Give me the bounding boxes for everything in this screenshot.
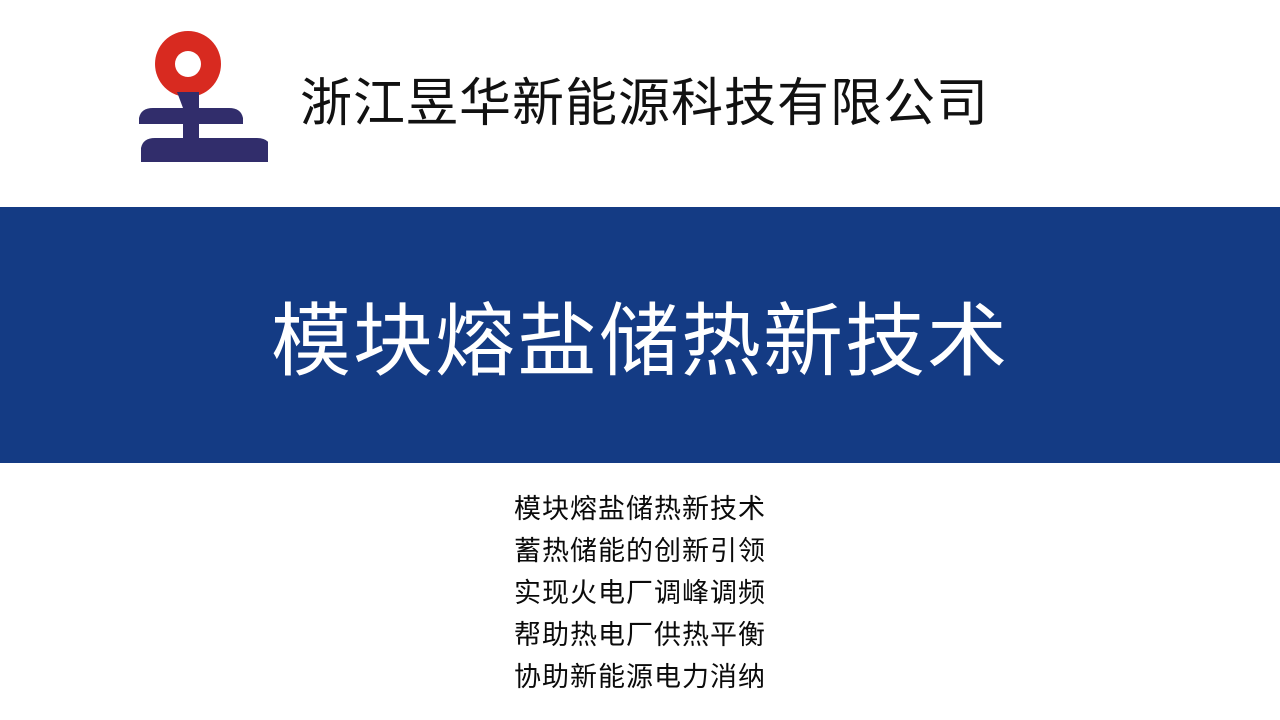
company-name: 浙江昱华新能源科技有限公司 (300, 62, 1040, 148)
list-item: 蓄热储能的创新引领 (0, 530, 1280, 572)
list-item: 协助新能源电力消纳 (0, 656, 1280, 698)
title-banner: 模块熔盐储热新技术 (0, 207, 1280, 463)
list-item: 实现火电厂调峰调频 (0, 572, 1280, 614)
key-points-list: 模块熔盐储热新技术 蓄热储能的创新引领 实现火电厂调峰调频 帮助热电厂供热平衡 … (0, 488, 1280, 698)
slide-header: 浙江昱华新能源科技有限公司 (0, 0, 1280, 207)
presentation-slide: 浙江昱华新能源科技有限公司 模块熔盐储热新技术 模块熔盐储热新技术 蓄热储能的创… (0, 0, 1280, 720)
slide-title: 模块熔盐储热新技术 (0, 207, 1280, 463)
company-logo-icon (108, 28, 268, 173)
list-item: 模块熔盐储热新技术 (0, 488, 1280, 530)
list-item: 帮助热电厂供热平衡 (0, 614, 1280, 656)
